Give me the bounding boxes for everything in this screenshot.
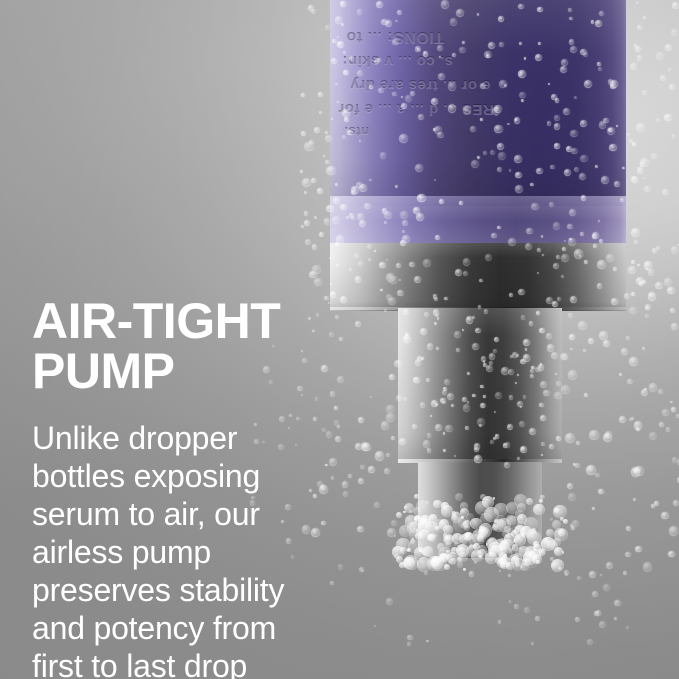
body-paragraph: Unlike dropper bottles exposing serum to… — [32, 396, 322, 679]
copy-block: AIR-TIGHT PUMP Unlike dropper bottles ex… — [32, 296, 322, 679]
body-line-3: serum to air, our — [32, 495, 322, 533]
body-line-6: and potency from — [32, 609, 322, 647]
body-line-1: Unlike dropper — [32, 419, 322, 457]
page-title: AIR-TIGHT PUMP — [32, 296, 322, 396]
body-line-2: bottles exposing — [32, 457, 322, 495]
product-feature-image: nts. iRES ... d ... a ... e for e or ...… — [0, 0, 679, 679]
body-line-4: airless pump — [32, 533, 322, 571]
headline-line-1: AIR-TIGHT — [32, 296, 322, 346]
headline-line-2: PUMP — [32, 346, 322, 396]
body-line-7: first to last drop — [32, 647, 322, 679]
body-line-5: preserves stability — [32, 571, 322, 609]
